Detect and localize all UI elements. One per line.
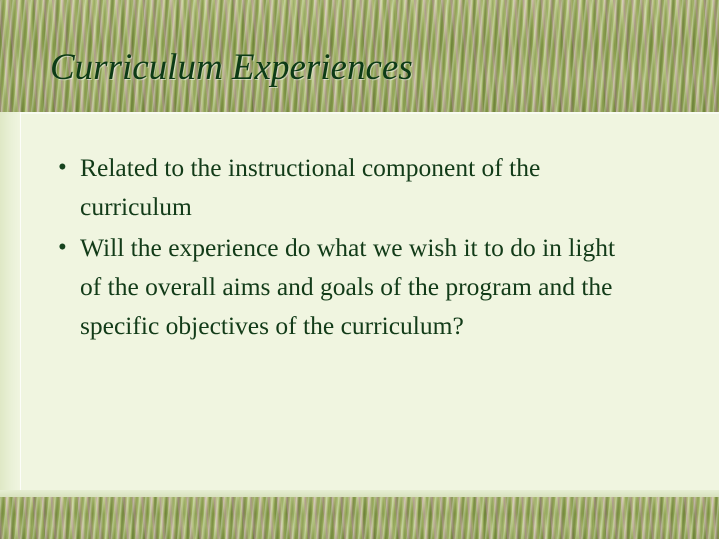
list-item: • Related to the instructional component… — [52, 148, 652, 226]
bullet-list: • Related to the instructional component… — [52, 148, 652, 347]
bullet-dot-icon: • — [52, 148, 80, 187]
slide-title-area: Curriculum Experiences — [50, 45, 670, 97]
list-item-label: Will the experience do what we wish it t… — [80, 228, 616, 345]
left-accent-strip — [0, 112, 20, 497]
panel-bottom-edge — [0, 490, 719, 497]
left-accent-strip-line — [20, 112, 21, 497]
list-item: • Will the experience do what we wish it… — [52, 228, 652, 345]
bullet-dot-icon: • — [52, 228, 80, 267]
grass-texture-band-bottom — [0, 497, 719, 539]
list-item-label: Related to the instructional component o… — [80, 148, 616, 226]
presentation-slide: Curriculum Experiences • Related to the … — [0, 0, 719, 539]
panel-top-edge — [0, 112, 719, 114]
page-title: Curriculum Experiences — [50, 45, 670, 90]
